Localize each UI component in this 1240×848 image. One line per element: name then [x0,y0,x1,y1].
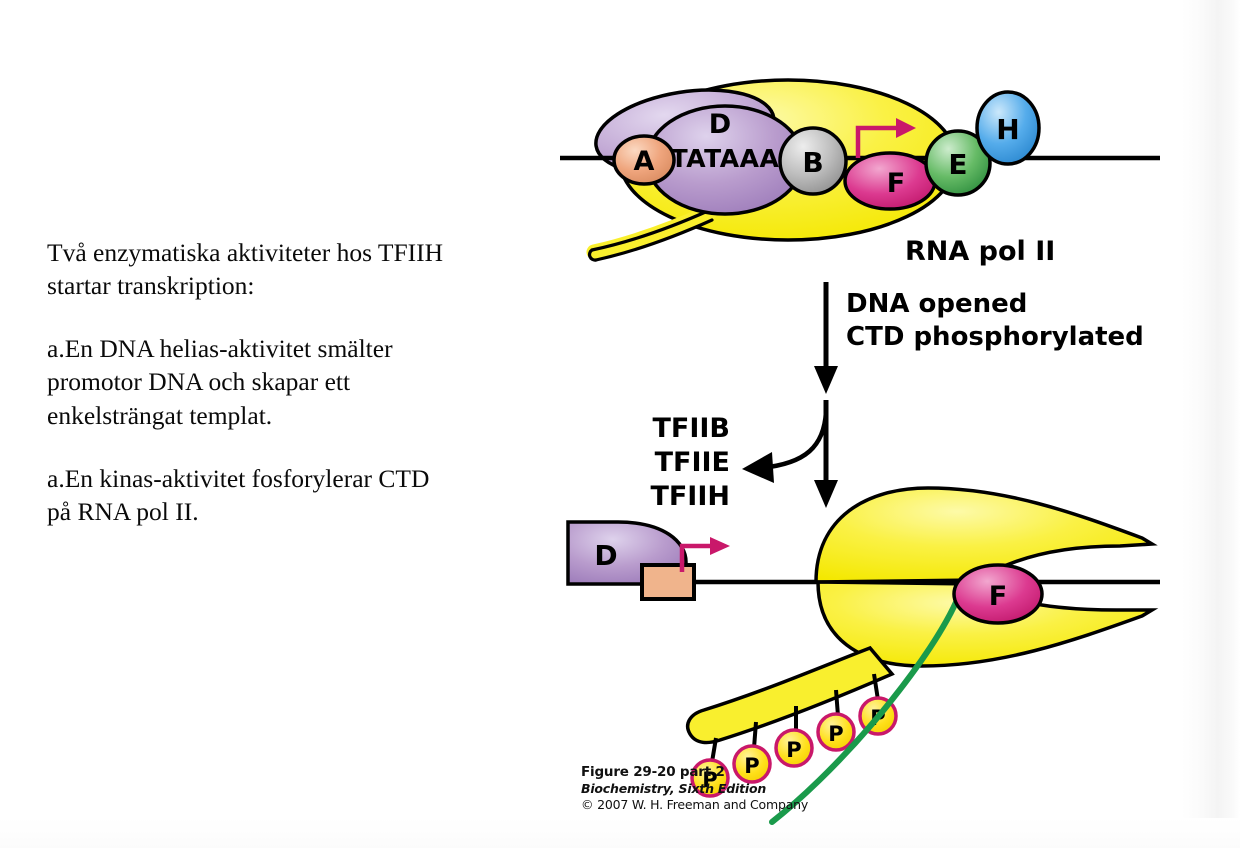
subunit-a-label: A [634,146,655,177]
transition-step-line-2: CTD phosphorylated [846,322,1144,352]
subunit-b-label: B [802,146,823,179]
intro-line-2: startar transkription: [47,269,517,302]
subunit-d-bottom-label: D [594,539,617,572]
caption-copyright: © 2007 W. H. Freeman and Company [581,797,911,813]
subunit-f-bottom-label: F [989,581,1007,612]
caption-figure-number: Figure 29-20 part 2 [581,764,911,781]
phosphate-label: P [786,738,801,762]
transition-section: DNA opened CTD phosphorylated TFIIB TFII… [650,282,1143,512]
slide-canvas: Två enzymatiska aktiviteter hos TFIIH st… [0,0,1240,848]
released-factor-2: TFIIE [655,447,730,478]
point-a-line-1: a.En DNA helias-aktivitet smälter [47,332,517,365]
paragraph-spacer [47,302,517,332]
transition-arrow-1-head [814,366,838,394]
paragraph-spacer [47,432,517,462]
subunit-d-label: D [709,109,731,140]
subunit-h-label: H [996,113,1019,146]
ctd-tail-bottom-fill [688,648,892,742]
point-a-line-3: enkelsträngat templat. [47,399,517,432]
tata-box-sequence: TATAAA [671,144,780,173]
top-preinitiation-complex: TATAAA A D B F [560,78,1160,267]
figure-caption: Figure 29-20 part 2 Biochemistry, Sixth … [581,764,911,813]
transcription-initiation-figure: TATAAA A D B F [560,60,1160,830]
transition-arrow-2-head [814,480,838,508]
intro-line-1: Två enzymatiska aktiviteter hos TFIIH [47,236,517,269]
rna-pol-ii-label: RNA pol II [905,236,1055,267]
released-factor-1: TFIIB [652,413,730,444]
subunit-e-label: E [948,148,967,181]
factor-release-arrow-head [742,452,774,483]
slide-right-edge-shadow [1182,0,1240,848]
caption-book-title: Biochemistry, Sixth Edition [581,781,911,797]
released-factor-3: TFIIH [650,481,730,512]
lecture-text-block: Två enzymatiska aktiviteter hos TFIIH st… [47,236,517,528]
point-a-line-2: promotor DNA och skapar ett [47,365,517,398]
subunit-f-label: F [887,168,905,199]
transition-step-line-1: DNA opened [846,289,1027,319]
point-b-line-2: på RNA pol II. [47,495,517,528]
point-b-line-1: a.En kinas-aktivitet fosforylerar CTD [47,462,517,495]
phosphate-label: P [828,722,843,746]
promoter-box [642,565,694,599]
